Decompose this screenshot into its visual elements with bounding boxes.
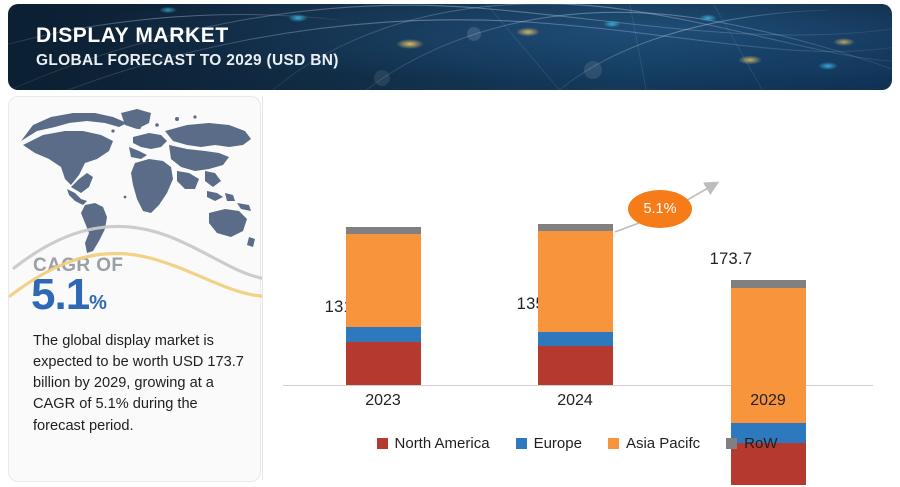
legend-item-row[interactable]: RoW (726, 435, 777, 452)
world-map-icon (9, 101, 260, 261)
bar-segment-asia-pacific-2024 (538, 231, 613, 332)
bar-segment-north-america-2023 (346, 342, 421, 385)
bar-segment-europe-2024 (538, 332, 613, 346)
cagr-callout-text: 5.1% (643, 201, 676, 217)
legend-label-row: RoW (744, 435, 777, 452)
legend-swatch-asia-pacific (608, 438, 619, 449)
x-axis-label-2024: 2024 (520, 392, 630, 410)
legend-item-asia-pacific[interactable]: Asia Pacifc (608, 435, 700, 452)
legend-item-europe[interactable]: Europe (516, 435, 582, 452)
cagr-number: 5.1 (31, 270, 89, 319)
legend-swatch-europe (516, 438, 527, 449)
bar-total-label-2029: 173.7 (676, 250, 786, 269)
left-summary-card: CAGR OF 5.1% The global display market i… (8, 96, 261, 482)
x-axis-label-2029: 2029 (713, 392, 823, 410)
cagr-callout-bubble: 5.1% (628, 190, 692, 228)
bar-segment-north-america-2024 (538, 346, 613, 385)
stacked-bar-2024[interactable] (538, 224, 613, 385)
infographic-page: DISPLAY MARKET GLOBAL FORECAST TO 2029 (… (0, 0, 900, 487)
summary-description: The global display market is expected to… (33, 331, 249, 437)
page-subtitle: GLOBAL FORECAST TO 2029 (USD BN) (36, 52, 339, 70)
header-banner: DISPLAY MARKET GLOBAL FORECAST TO 2029 (… (8, 4, 892, 90)
legend-swatch-row (726, 438, 737, 449)
legend-label-asia-pacific: Asia Pacifc (626, 435, 700, 452)
chart-legend: North America Europe Asia Pacifc RoW (262, 430, 892, 456)
x-axis-label-2023: 2023 (328, 392, 438, 410)
legend-label-north-america: North America (395, 435, 490, 452)
bar-segment-europe-2023 (346, 327, 421, 342)
legend-swatch-north-america (377, 438, 388, 449)
legend-item-north-america[interactable]: North America (377, 435, 490, 452)
chart-plot-area: 131.1 2023 135.2 2024 173.7 (263, 96, 893, 480)
bar-segment-row-2023 (346, 227, 421, 234)
legend-label-europe: Europe (534, 435, 582, 452)
world-map (9, 101, 260, 261)
page-title: DISPLAY MARKET (36, 24, 229, 48)
bar-segment-row-2024 (538, 224, 613, 231)
cagr-percent-sign: % (89, 292, 106, 314)
cagr-value: 5.1% (31, 273, 106, 317)
chart-panel: 131.1 2023 135.2 2024 173.7 (262, 96, 893, 480)
bar-segment-asia-pacific-2023 (346, 234, 421, 327)
stacked-bar-2023[interactable] (346, 227, 421, 385)
bar-segment-row-2029 (731, 280, 806, 288)
